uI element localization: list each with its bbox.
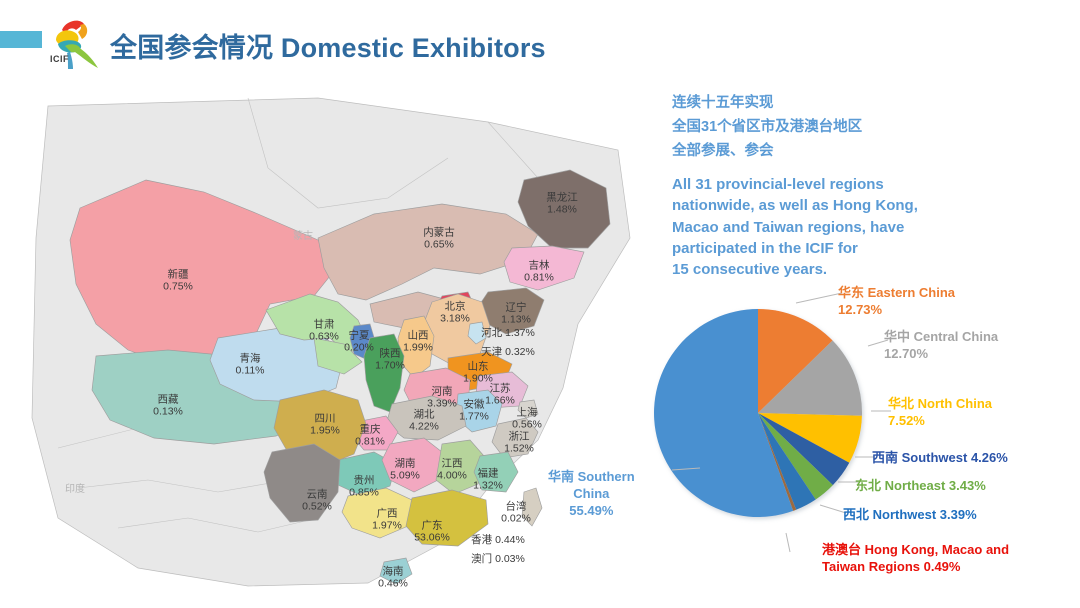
pie-label-northwest: 西北 Northwest 3.39%: [843, 507, 977, 524]
callout-english-line-3: participated in the ICIF for: [672, 238, 992, 259]
callout-english-line-4: 15 consecutive years.: [672, 259, 992, 280]
callout-english-line-1: nationwide, as well as Hong Kong,: [672, 195, 992, 216]
icif-logo: ICIF: [42, 12, 104, 70]
pie-label-hong-kong-macao-taiwan: 港澳台 Hong Kong, Macao andTaiwan Regions 0…: [822, 542, 1009, 576]
pie-label-eastern-china: 华东 Eastern China12.73%: [838, 285, 955, 319]
pie-label-north-china: 华北 North China7.52%: [888, 396, 992, 430]
pie-label-central-china: 华中 Central China12.70%: [884, 329, 998, 363]
page-title: 全国参会情况 Domestic Exhibitors: [110, 26, 546, 65]
callout-english: All 31 provincial-level regionsnationwid…: [672, 174, 992, 280]
callout-english-line-2: Macao and Taiwan regions, have: [672, 217, 992, 238]
callout-chinese-line-1: 全国31个省区市及港澳台地区: [672, 116, 1002, 140]
callout-english-line-0: All 31 provincial-level regions: [672, 174, 992, 195]
pie-label-southwest: 西南 Southwest 4.26%: [872, 450, 1008, 467]
icif-logo-text: ICIF: [50, 54, 69, 64]
callout-chinese-line-2: 全部参展、参会: [672, 140, 1002, 164]
callout-chinese-line-0: 连续十五年实现: [672, 92, 1002, 116]
pie-label-northeast: 东北 Northeast 3.43%: [855, 478, 986, 495]
pie-label-southern-china: 华南 Southern China 55.49%: [548, 469, 635, 520]
header-accent-bar: [0, 31, 42, 48]
callout-chinese: 连续十五年实现全国31个省区市及港澳台地区全部参展、参会: [672, 92, 1002, 164]
